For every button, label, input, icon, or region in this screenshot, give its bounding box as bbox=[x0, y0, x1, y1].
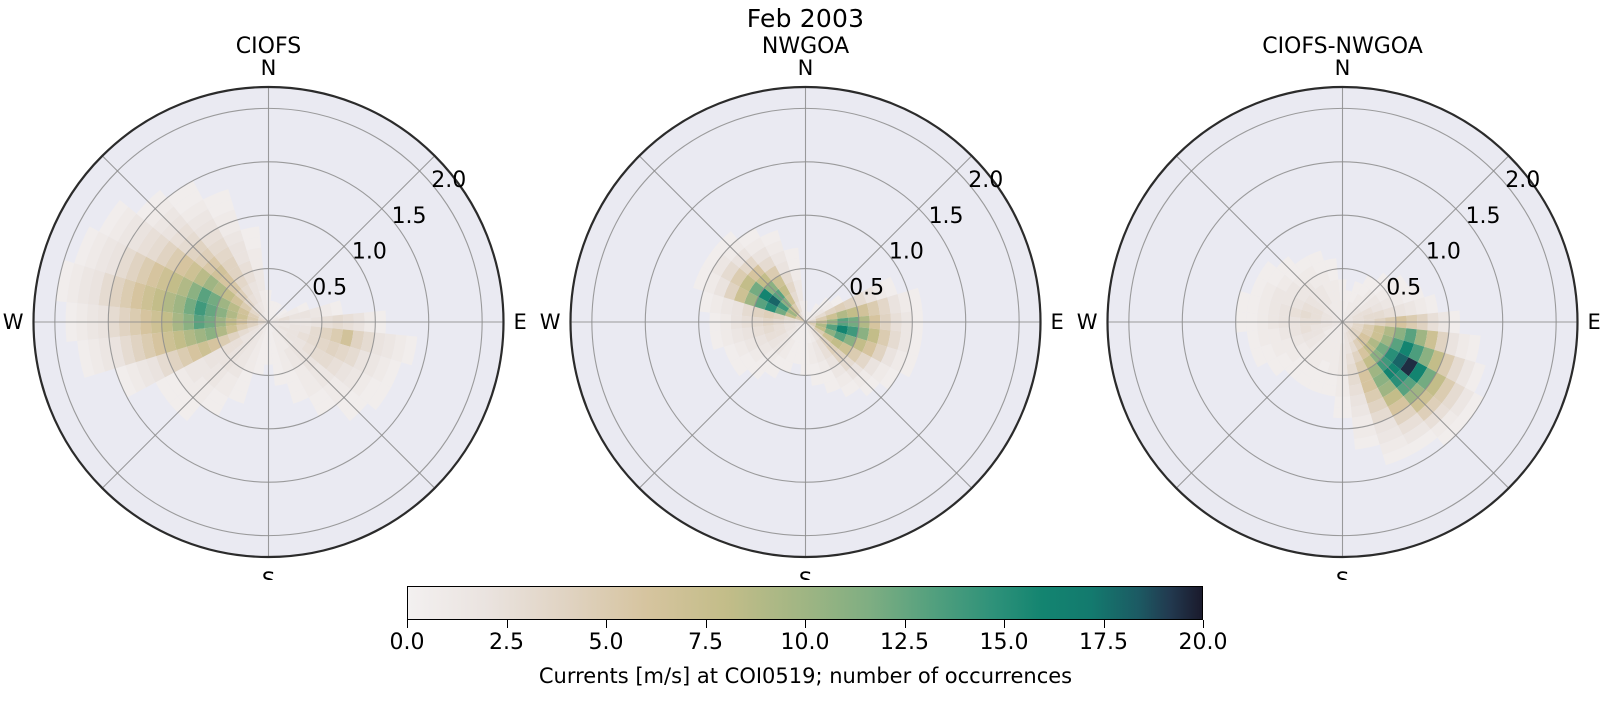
radial-tick-label: 0.5 bbox=[312, 275, 347, 300]
compass-label-n: N bbox=[1335, 56, 1351, 80]
compass-label-e: E bbox=[1588, 310, 1601, 334]
colorbar-tick-label: 12.5 bbox=[880, 630, 929, 655]
colorbar-tick-label: 10.0 bbox=[781, 630, 830, 655]
colorbar-tick bbox=[1004, 620, 1005, 628]
polar-plot-nwgoa: 0.51.01.52.0NESW bbox=[537, 0, 1074, 580]
colorbar-tick-label: 20.0 bbox=[1179, 630, 1228, 655]
compass-label-w: W bbox=[1077, 310, 1098, 334]
figure-canvas: Feb 2003 CIOFS 0.51.01.52.0NESW NWGOA 0.… bbox=[0, 0, 1611, 724]
compass-label-s: S bbox=[799, 568, 812, 580]
polar-axes: 0.51.01.52.0NESW bbox=[537, 0, 1074, 580]
colorbar-tick bbox=[706, 620, 707, 628]
compass-label-w: W bbox=[3, 310, 24, 334]
colorbar-tick-label: 0.0 bbox=[390, 630, 425, 655]
colorbar-tick-label: 17.5 bbox=[1079, 630, 1128, 655]
compass-label-n: N bbox=[261, 56, 277, 80]
radial-tick-label: 2.0 bbox=[968, 168, 1003, 193]
compass-label-e: E bbox=[514, 310, 527, 334]
colorbar-tick-label: 15.0 bbox=[980, 630, 1029, 655]
compass-label-s: S bbox=[262, 568, 275, 580]
radial-tick-label: 0.5 bbox=[849, 275, 884, 300]
colorbar-tick bbox=[507, 620, 508, 628]
colorbar-tick bbox=[1203, 620, 1204, 628]
radial-tick-label: 1.0 bbox=[1426, 240, 1461, 265]
radial-tick-label: 1.0 bbox=[352, 240, 387, 265]
colorbar-tick bbox=[606, 620, 607, 628]
colorbar bbox=[407, 586, 1203, 620]
compass-label-w: W bbox=[540, 310, 561, 334]
polar-axes: 0.51.01.52.0NESW bbox=[1074, 0, 1611, 580]
colorbar-tick bbox=[905, 620, 906, 628]
colorbar-tick bbox=[1104, 620, 1105, 628]
radial-tick-label: 2.0 bbox=[431, 168, 466, 193]
colorbar-tick bbox=[407, 620, 408, 628]
polar-plot-ciofs-nwgoa: 0.51.01.52.0NESW bbox=[1074, 0, 1611, 580]
polar-plot-ciofs: 0.51.01.52.0NESW bbox=[0, 0, 537, 580]
colorbar-tick-label: 2.5 bbox=[489, 630, 524, 655]
colorbar-axis-label: Currents [m/s] at COI0519; number of occ… bbox=[0, 664, 1611, 688]
radial-tick-label: 1.0 bbox=[889, 240, 924, 265]
colorbar-tick-label: 7.5 bbox=[688, 630, 723, 655]
compass-label-e: E bbox=[1051, 310, 1064, 334]
panel-ciofs-nwgoa: CIOFS-NWGOA 0.51.01.52.0NESW bbox=[1074, 0, 1611, 580]
colorbar-ticks bbox=[407, 620, 1203, 630]
radial-tick-label: 1.5 bbox=[392, 204, 427, 229]
colorbar-tick-labels: 0.02.55.07.510.012.515.017.520.0 bbox=[407, 630, 1203, 658]
panel-nwgoa: NWGOA 0.51.01.52.0NESW bbox=[537, 0, 1074, 580]
colorbar-tick-label: 5.0 bbox=[589, 630, 624, 655]
compass-label-s: S bbox=[1336, 568, 1349, 580]
radial-tick-label: 0.5 bbox=[1386, 275, 1421, 300]
radial-tick-label: 1.5 bbox=[929, 204, 964, 229]
radial-tick-label: 1.5 bbox=[1466, 204, 1501, 229]
colorbar-gradient bbox=[408, 587, 1202, 619]
compass-label-n: N bbox=[798, 56, 814, 80]
polar-axes: 0.51.01.52.0NESW bbox=[0, 0, 537, 580]
colorbar-tick bbox=[805, 620, 806, 628]
panel-ciofs: CIOFS 0.51.01.52.0NESW bbox=[0, 0, 537, 580]
radial-tick-label: 2.0 bbox=[1505, 168, 1540, 193]
